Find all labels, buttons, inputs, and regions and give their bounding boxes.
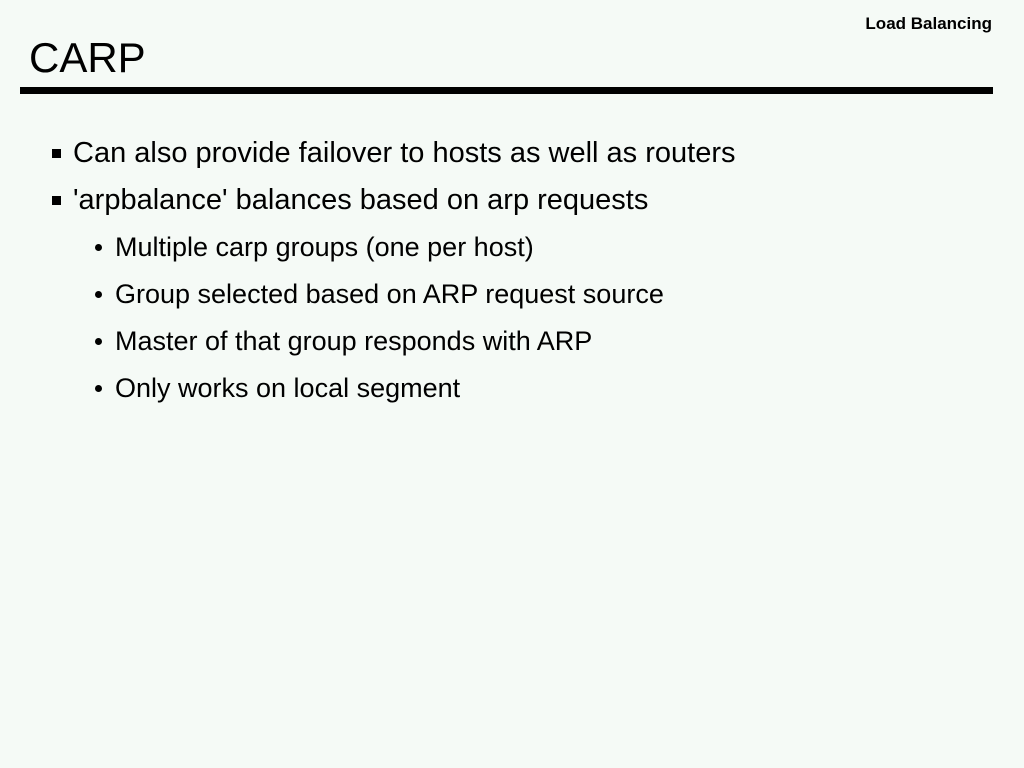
dot-bullet-icon [95,291,102,298]
list-item: Can also provide failover to hosts as we… [0,133,1024,180]
slide-header-label: Load Balancing [865,14,992,34]
bullet-list: Can also provide failover to hosts as we… [0,133,1024,415]
list-item: Multiple carp groups (one per host) [0,227,1024,274]
bullet-text: Multiple carp groups (one per host) [115,227,1024,267]
square-bullet-icon [52,196,61,205]
slide-title: CARP [29,35,146,81]
dot-bullet-icon [95,338,102,345]
bullet-text: Can also provide failover to hosts as we… [73,133,1024,173]
list-item: Only works on local segment [0,368,1024,415]
slide-canvas: Load Balancing CARP Can also provide fai… [0,0,1024,768]
title-divider-rule [20,87,993,94]
bullet-text: Master of that group responds with ARP [115,321,1024,361]
bullet-text: 'arpbalance' balances based on arp reque… [73,180,1024,220]
dot-bullet-icon [95,244,102,251]
dot-bullet-icon [95,385,102,392]
list-item: Master of that group responds with ARP [0,321,1024,368]
list-item: 'arpbalance' balances based on arp reque… [0,180,1024,227]
bullet-text: Group selected based on ARP request sour… [115,274,1024,314]
bullet-text: Only works on local segment [115,368,1024,408]
square-bullet-icon [52,149,61,158]
list-item: Group selected based on ARP request sour… [0,274,1024,321]
